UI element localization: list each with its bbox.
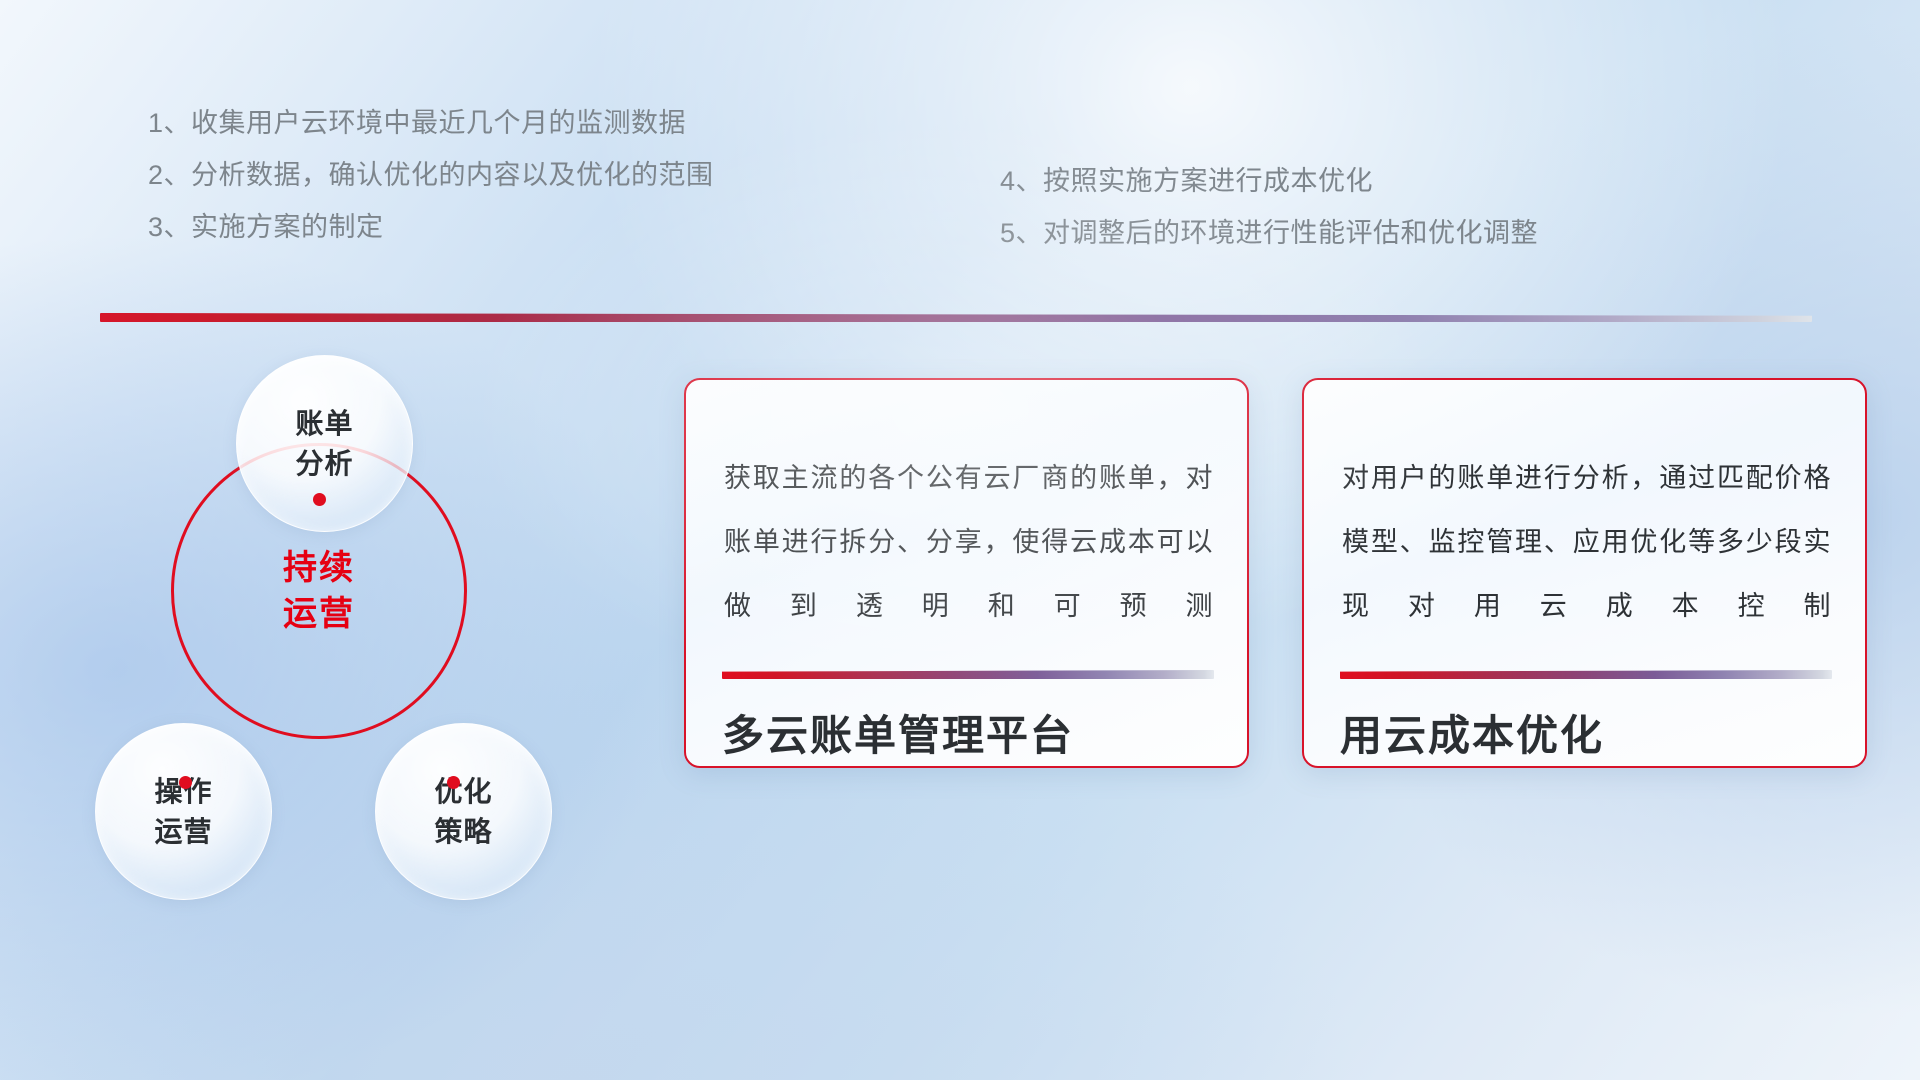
steps-right-column: 4、按照实施方案进行成本优化 5、对调整后的环境进行性能评估和优化调整 <box>1000 155 1538 259</box>
card-title: 多云账单管理平台 <box>722 702 1217 763</box>
slide-canvas: 1、收集用户云环境中最近几个月的监测数据 2、分析数据，确认优化的内容以及优化的… <box>0 0 1920 1080</box>
card-body-text: 获取主流的各个公有云厂商的账单，对账单进行拆分、分享，使得云成本可以做到透明和可… <box>724 446 1213 638</box>
bubble-bill-analysis[interactable]: 账单 分析 <box>236 355 413 532</box>
card-multi-cloud-bill-platform[interactable]: 获取主流的各个公有云厂商的账单，对账单进行拆分、分享，使得云成本可以做到透明和可… <box>684 378 1249 768</box>
bubble-label-line-1: 账单 <box>295 408 353 439</box>
bubble-label-line-2: 策略 <box>434 816 492 847</box>
connector-dot-top-icon <box>313 493 326 506</box>
card-divider <box>722 670 1214 679</box>
bubble-operation-running[interactable]: 操作 运营 <box>95 723 272 900</box>
steps-left-column: 1、收集用户云环境中最近几个月的监测数据 2、分析数据，确认优化的内容以及优化的… <box>148 97 714 253</box>
bubble-label-line-1: 优化 <box>434 776 492 807</box>
venn-diagram: 持续 运营 账单 分析 操作 运营 优化 策略 <box>95 355 635 940</box>
step-item: 4、按照实施方案进行成本优化 <box>1000 155 1538 207</box>
card-divider <box>1340 670 1832 679</box>
connector-dot-left-icon <box>179 776 192 789</box>
card-title: 用云成本优化 <box>1340 702 1835 763</box>
step-item: 1、收集用户云环境中最近几个月的监测数据 <box>148 97 714 149</box>
bubble-label-line-2: 分析 <box>295 448 353 479</box>
step-item: 2、分析数据，确认优化的内容以及优化的范围 <box>148 149 714 201</box>
bubble-label-line-2: 运营 <box>154 816 212 847</box>
connector-dot-right-icon <box>447 776 460 789</box>
card-cloud-cost-optimization[interactable]: 对用户的账单进行分析，通过匹配价格模型、监控管理、应用优化等多少段实现对用云成本… <box>1302 378 1867 768</box>
step-item: 3、实施方案的制定 <box>148 201 714 253</box>
step-item: 5、对调整后的环境进行性能评估和优化调整 <box>1000 207 1538 259</box>
card-body-text: 对用户的账单进行分析，通过匹配价格模型、监控管理、应用优化等多少段实现对用云成本… <box>1342 446 1831 638</box>
header-divider <box>100 313 1812 322</box>
bubble-optimization-policy[interactable]: 优化 策略 <box>375 723 552 900</box>
